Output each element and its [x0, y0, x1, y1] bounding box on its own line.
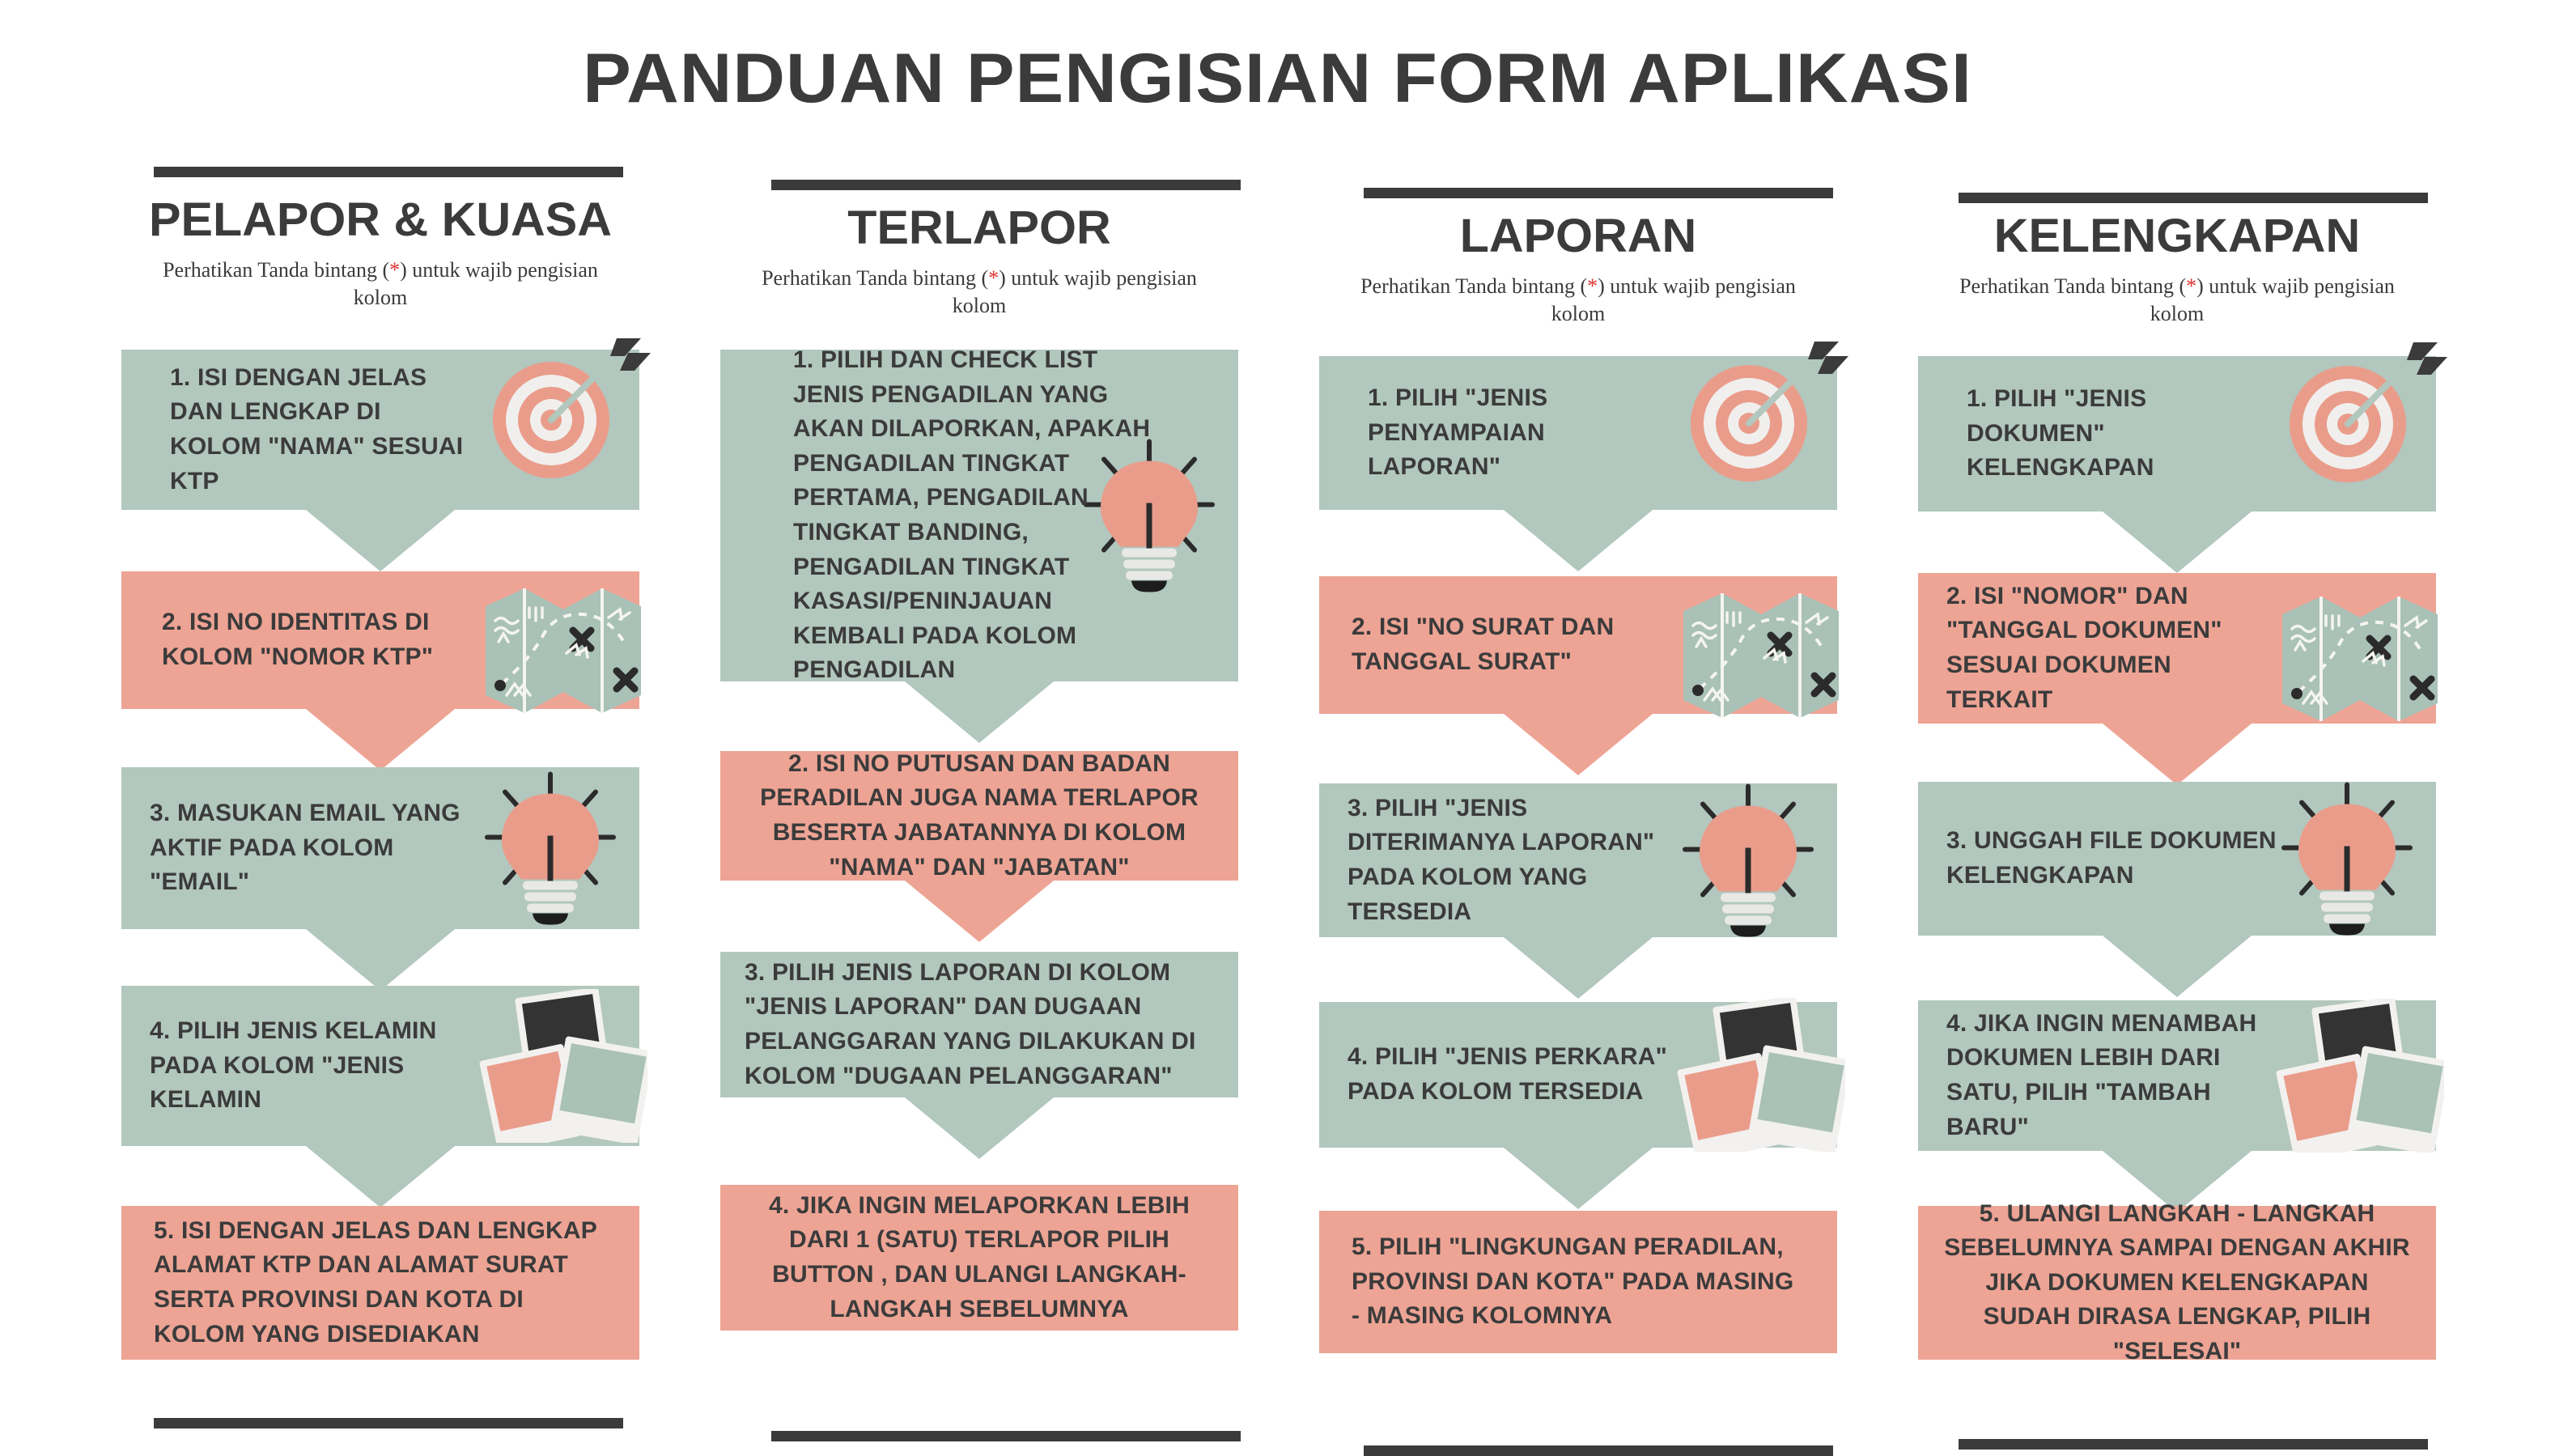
- step-bubble: 2. ISI NO IDENTITAS DI KOLOM "NOMOR KTP": [121, 571, 639, 709]
- column-top-rule: [1364, 188, 1833, 198]
- step-bubble: 5. PILIH "LINGKUNGAN PERADILAN, PROVINSI…: [1319, 1211, 1837, 1353]
- bubble-tail: [306, 510, 455, 571]
- bubble-tail: [1504, 937, 1653, 999]
- column-header: TERLAPORPerhatikan Tanda bintang (*) unt…: [720, 204, 1238, 320]
- step-text: 5. PILIH "LINGKUNGAN PERADILAN, PROVINSI…: [1319, 1230, 1837, 1334]
- column-top-rule: [154, 167, 623, 177]
- step-text: 2. ISI NO IDENTITAS DI KOLOM "NOMOR KTP": [121, 605, 639, 674]
- required-asterisk: *: [2186, 274, 2196, 298]
- step-bubble: 3. PILIH "JENIS DITERIMANYA LAPORAN" PAD…: [1319, 783, 1837, 937]
- step-text: 3. UNGGAH FILE DOKUMEN KELENGKAPAN: [1918, 824, 2436, 893]
- step-text: 5. ULANGI LANGKAH - LANGKAH SEBELUMNYA S…: [1918, 1197, 2436, 1369]
- step-text: 3. PILIH "JENIS DITERIMANYA LAPORAN" PAD…: [1319, 792, 1837, 929]
- step-bubble: 4. PILIH JENIS KELAMIN PADA KOLOM "JENIS…: [121, 986, 639, 1146]
- step-bubble-body: 5. ULANGI LANGKAH - LANGKAH SEBELUMNYA S…: [1918, 1206, 2436, 1360]
- step-bubble-body: 1. PILIH "JENIS DOKUMEN" KELENGKAPAN: [1918, 356, 2436, 512]
- step-bubble-body: 4. PILIH JENIS KELAMIN PADA KOLOM "JENIS…: [121, 986, 639, 1146]
- step-text: 4. JIKA INGIN MELAPORKAN LEBIH DARI 1 (S…: [720, 1189, 1238, 1327]
- step-text: 2. ISI NO PUTUSAN DAN BADAN PERADILAN JU…: [720, 747, 1238, 885]
- bubble-tail: [1504, 1148, 1653, 1209]
- step-bubble-body: 3. PILIH "JENIS DITERIMANYA LAPORAN" PAD…: [1319, 783, 1837, 937]
- subtitle-text-before: Perhatikan Tanda bintang (: [1959, 274, 2186, 298]
- step-text: 3. PILIH JENIS LAPORAN DI KOLOM "JENIS L…: [720, 956, 1238, 1093]
- step-text: 4. JIKA INGIN MENAMBAH DOKUMEN LEBIH DAR…: [1918, 1007, 2436, 1144]
- column-terlapor: TERLAPORPerhatikan Tanda bintang (*) unt…: [720, 0, 1238, 1453]
- bubble-tail: [905, 1097, 1054, 1159]
- step-text: 4. PILIH "JENIS PERKARA" PADA KOLOM TERS…: [1319, 1040, 1837, 1109]
- step-bubble-body: 3. PILIH JENIS LAPORAN DI KOLOM "JENIS L…: [720, 952, 1238, 1097]
- column-title: KELENGKAPAN: [1913, 212, 2442, 261]
- column-subtitle: Perhatikan Tanda bintang (*) untuk wajib…: [1319, 273, 1837, 329]
- step-bubble-body: 4. JIKA INGIN MENAMBAH DOKUMEN LEBIH DAR…: [1918, 1000, 2436, 1151]
- bubble-tail: [2103, 936, 2252, 997]
- step-text: 1. ISI DENGAN JELAS DAN LENGKAP DI KOLOM…: [121, 361, 639, 499]
- step-bubble: 3. MASUKAN EMAIL YANG AKTIF PADA KOLOM "…: [121, 767, 639, 929]
- step-text: 3. MASUKAN EMAIL YANG AKTIF PADA KOLOM "…: [121, 796, 639, 900]
- columns-container: PELAPOR & KUASAPerhatikan Tanda bintang …: [0, 0, 2555, 1453]
- bubble-tail: [1504, 714, 1653, 775]
- bubble-tail: [905, 681, 1054, 743]
- column-subtitle: Perhatikan Tanda bintang (*) untuk wajib…: [1918, 273, 2436, 329]
- step-bubble: 4. JIKA INGIN MELAPORKAN LEBIH DARI 1 (S…: [720, 1185, 1238, 1331]
- column-header: LAPORANPerhatikan Tanda bintang (*) untu…: [1319, 212, 1837, 329]
- step-bubble-body: 2. ISI NO IDENTITAS DI KOLOM "NOMOR KTP": [121, 571, 639, 709]
- column-title: TERLAPOR: [715, 204, 1244, 253]
- step-bubble: 4. JIKA INGIN MENAMBAH DOKUMEN LEBIH DAR…: [1918, 1000, 2436, 1151]
- bubble-tail: [2103, 724, 2252, 785]
- column-title: PELAPOR & KUASA: [117, 196, 645, 245]
- step-bubble: 4. PILIH "JENIS PERKARA" PADA KOLOM TERS…: [1319, 1002, 1837, 1148]
- step-text: 1. PILIH "JENIS DOKUMEN" KELENGKAPAN: [1918, 382, 2436, 486]
- column-title: LAPORAN: [1314, 212, 1843, 261]
- step-bubble: 5. ISI DENGAN JELAS DAN LENGKAP ALAMAT K…: [121, 1206, 639, 1360]
- step-bubble: 3. PILIH JENIS LAPORAN DI KOLOM "JENIS L…: [720, 952, 1238, 1097]
- step-bubble-body: 3. MASUKAN EMAIL YANG AKTIF PADA KOLOM "…: [121, 767, 639, 929]
- step-bubble-body: 2. ISI "NO SURAT DAN TANGGAL SURAT": [1319, 576, 1837, 714]
- column-top-rule: [771, 180, 1241, 190]
- column-subtitle: Perhatikan Tanda bintang (*) untuk wajib…: [121, 257, 639, 312]
- step-bubble: 1. PILIH "JENIS DOKUMEN" KELENGKAPAN: [1918, 356, 2436, 512]
- step-text: 2. ISI "NO SURAT DAN TANGGAL SURAT": [1319, 610, 1837, 679]
- step-text: 4. PILIH JENIS KELAMIN PADA KOLOM "JENIS…: [121, 1014, 639, 1118]
- required-asterisk: *: [1587, 274, 1598, 298]
- bubble-tail: [306, 929, 455, 991]
- column-subtitle: Perhatikan Tanda bintang (*) untuk wajib…: [720, 265, 1238, 320]
- step-bubble-body: 5. PILIH "LINGKUNGAN PERADILAN, PROVINSI…: [1319, 1211, 1837, 1353]
- step-text: 5. ISI DENGAN JELAS DAN LENGKAP ALAMAT K…: [121, 1214, 639, 1352]
- step-bubble-body: 5. ISI DENGAN JELAS DAN LENGKAP ALAMAT K…: [121, 1206, 639, 1360]
- column-bottom-rule: [1959, 1439, 2428, 1450]
- column-bottom-rule: [1364, 1445, 1833, 1456]
- step-bubble: 2. ISI NO PUTUSAN DAN BADAN PERADILAN JU…: [720, 751, 1238, 881]
- required-asterisk: *: [988, 266, 999, 290]
- step-bubble: 5. ULANGI LANGKAH - LANGKAH SEBELUMNYA S…: [1918, 1206, 2436, 1360]
- step-bubble-body: 2. ISI NO PUTUSAN DAN BADAN PERADILAN JU…: [720, 751, 1238, 881]
- column-kelengkapan: KELENGKAPANPerhatikan Tanda bintang (*) …: [1918, 0, 2436, 1453]
- step-bubble: 2. ISI "NO SURAT DAN TANGGAL SURAT": [1319, 576, 1837, 714]
- step-bubble-body: 1. ISI DENGAN JELAS DAN LENGKAP DI KOLOM…: [121, 350, 639, 510]
- column-top-rule: [1959, 193, 2428, 203]
- step-bubble-body: 3. UNGGAH FILE DOKUMEN KELENGKAPAN: [1918, 782, 2436, 936]
- bubble-tail: [1504, 510, 1653, 571]
- step-bubble: 1. PILIH "JENIS PENYAMPAIAN LAPORAN": [1319, 356, 1837, 510]
- step-bubble-body: 4. PILIH "JENIS PERKARA" PADA KOLOM TERS…: [1319, 1002, 1837, 1148]
- step-bubble: 1. PILIH DAN CHECK LIST JENIS PENGADILAN…: [720, 350, 1238, 681]
- subtitle-text-before: Perhatikan Tanda bintang (: [1360, 274, 1587, 298]
- column-bottom-rule: [771, 1431, 1241, 1441]
- column-pelapor-kuasa: PELAPOR & KUASAPerhatikan Tanda bintang …: [121, 0, 639, 1453]
- step-bubble: 1. ISI DENGAN JELAS DAN LENGKAP DI KOLOM…: [121, 350, 639, 510]
- bubble-tail: [306, 1146, 455, 1208]
- required-asterisk: *: [389, 258, 400, 282]
- step-text: 1. PILIH "JENIS PENYAMPAIAN LAPORAN": [1319, 381, 1837, 485]
- step-text: 2. ISI "NOMOR" DAN "TANGGAL DOKUMEN" SES…: [1918, 579, 2436, 717]
- column-header: PELAPOR & KUASAPerhatikan Tanda bintang …: [121, 196, 639, 312]
- step-bubble-body: 4. JIKA INGIN MELAPORKAN LEBIH DARI 1 (S…: [720, 1185, 1238, 1331]
- bubble-tail: [306, 709, 455, 770]
- step-bubble: 2. ISI "NOMOR" DAN "TANGGAL DOKUMEN" SES…: [1918, 573, 2436, 724]
- step-bubble: 3. UNGGAH FILE DOKUMEN KELENGKAPAN: [1918, 782, 2436, 936]
- step-bubble-body: 2. ISI "NOMOR" DAN "TANGGAL DOKUMEN" SES…: [1918, 573, 2436, 724]
- column-header: KELENGKAPANPerhatikan Tanda bintang (*) …: [1918, 212, 2436, 329]
- step-text: 1. PILIH DAN CHECK LIST JENIS PENGADILAN…: [720, 343, 1238, 688]
- column-laporan: LAPORANPerhatikan Tanda bintang (*) untu…: [1319, 0, 1837, 1453]
- bubble-tail: [905, 881, 1054, 942]
- bubble-tail: [2103, 512, 2252, 573]
- subtitle-text-before: Perhatikan Tanda bintang (: [163, 258, 389, 282]
- step-bubble-body: 1. PILIH "JENIS PENYAMPAIAN LAPORAN": [1319, 356, 1837, 510]
- column-bottom-rule: [154, 1418, 623, 1428]
- step-bubble-body: 1. PILIH DAN CHECK LIST JENIS PENGADILAN…: [720, 350, 1238, 681]
- subtitle-text-before: Perhatikan Tanda bintang (: [762, 266, 988, 290]
